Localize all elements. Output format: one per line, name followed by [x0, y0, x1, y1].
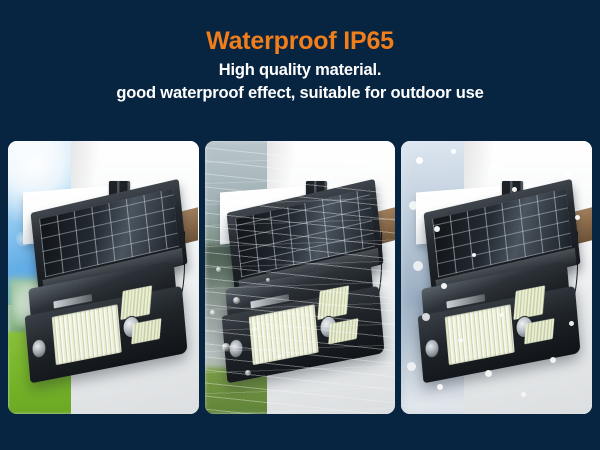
sunny-weather-panel	[8, 141, 199, 414]
rainy-scene	[205, 141, 396, 414]
snowflake-icon	[409, 201, 418, 210]
subtitle-line-1: High quality material.	[0, 59, 600, 82]
snowy-weather-panel	[401, 141, 592, 414]
rain-droplet-icon	[266, 278, 270, 282]
snowflake-icon	[458, 338, 463, 343]
page-title: Waterproof IP65	[0, 26, 600, 56]
snowy-scene	[401, 141, 592, 414]
rain-droplet-icon	[222, 343, 230, 351]
rain-droplet-icon	[216, 267, 221, 272]
rain-droplet-icon	[233, 297, 240, 304]
snowflake-icon	[451, 149, 456, 154]
product-feature-banner: Waterproof IP65 High quality material. g…	[0, 0, 600, 450]
snowflake-icon	[491, 163, 497, 169]
snowflake-icon	[550, 357, 556, 363]
rain-streaks	[205, 141, 396, 414]
snowflake-icon	[533, 152, 538, 157]
snowflake-icon	[472, 253, 476, 257]
banner-header: Waterproof IP65 High quality material. g…	[0, 0, 600, 132]
rain-droplet-icon	[252, 327, 257, 332]
sunny-scene	[8, 141, 199, 414]
rain-droplet-icon	[277, 354, 282, 359]
subtitle-line-2: good waterproof effect, suitable for out…	[0, 82, 600, 105]
snowflake-icon	[413, 261, 423, 271]
snowflake-icon	[464, 193, 468, 197]
rainy-weather-panel	[205, 141, 396, 414]
rain-droplet-icon	[245, 370, 251, 376]
snowflake-icon	[434, 226, 440, 232]
snowflake-icon	[407, 362, 416, 371]
weather-panel-strip	[8, 141, 592, 414]
snowflake-icon	[575, 215, 580, 220]
